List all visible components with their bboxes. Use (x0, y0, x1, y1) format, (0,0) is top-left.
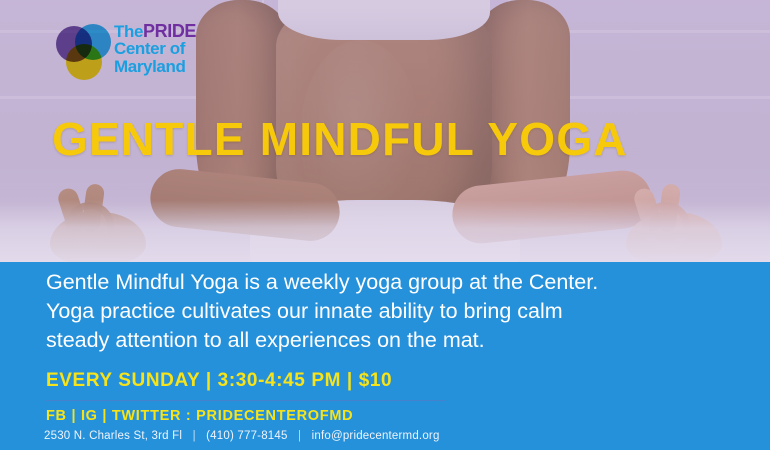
info-panel: Gentle Mindful Yoga is a weekly yoga gro… (0, 262, 770, 450)
contact-separator-1: | (186, 430, 203, 442)
logo-line-3: Maryland (114, 58, 196, 75)
description-line-2: Yoga practice cultivates our innate abil… (46, 297, 736, 326)
logo-circle-yellow (66, 44, 102, 80)
description-text: Gentle Mindful Yoga is a weekly yoga gro… (46, 268, 736, 355)
logo-the: The (114, 22, 143, 41)
logo-pride: PRIDE (143, 21, 196, 41)
contact-phone: (410) 777-8145 (206, 430, 287, 442)
logo-line-2: Center of (114, 40, 196, 57)
yoga-mat-floor (0, 200, 770, 262)
schedule-line: EVERY SUNDAY | 3:30-4:45 PM | $10 (46, 370, 392, 392)
description-line-1: Gentle Mindful Yoga is a weekly yoga gro… (46, 268, 736, 297)
social-handles: FB | IG | TWITTER : PRIDECENTEROFMD (46, 408, 353, 424)
contact-email: info@pridecentermd.org (312, 430, 440, 442)
yoga-flyer: ThePRIDE Center of Maryland GENTLE MINDF… (0, 0, 770, 450)
logo-circles-icon (56, 24, 112, 82)
logo-line-1: ThePRIDE (114, 22, 196, 40)
sports-top (278, 0, 490, 40)
contact-line: 2530 N. Charles St, 3rd Fl | (410) 777-8… (44, 430, 440, 442)
pride-center-logo: ThePRIDE Center of Maryland (56, 22, 226, 84)
logo-wordmark: ThePRIDE Center of Maryland (114, 22, 196, 75)
contact-separator-2: | (291, 430, 308, 442)
footer-divider (46, 400, 446, 401)
page-title: GENTLE MINDFUL YOGA (52, 112, 628, 166)
contact-address: 2530 N. Charles St, 3rd Fl (44, 430, 182, 442)
description-line-3: steady attention to all experiences on t… (46, 326, 736, 355)
